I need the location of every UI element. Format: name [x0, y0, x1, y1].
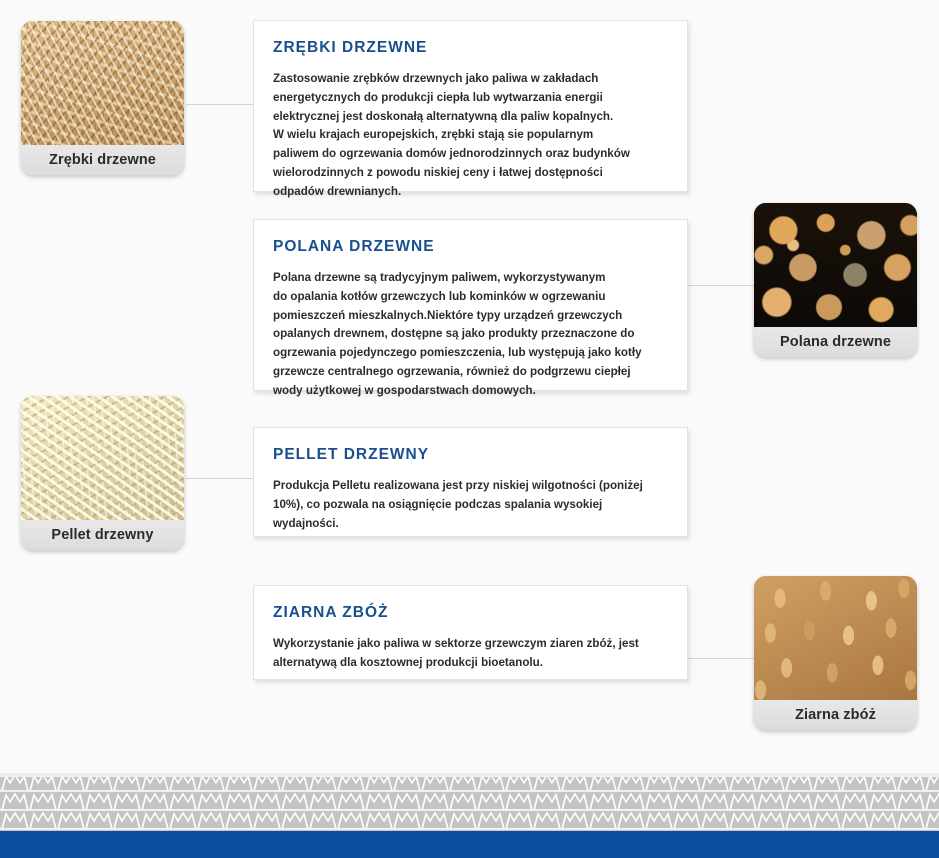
connector-line-wood-chips: [186, 104, 254, 105]
cereal-grains-photo: [754, 576, 917, 700]
thumbnail-caption: Ziarna zbóż: [754, 700, 917, 730]
biomass-fuels-infographic: Zrębki drzewne Zrębki drzewne Polana drz…: [0, 0, 939, 858]
info-card-wood-chips[interactable]: ZRĘBKI DRZEWNE Zastosowanie zrębków drze…: [253, 20, 688, 192]
wood-pellets-photo: [21, 396, 184, 520]
thumbnail-card[interactable]: Zrębki drzewne: [21, 21, 184, 175]
info-card-title: POLANA DRZEWNE: [273, 238, 668, 256]
info-card-cereal-grains[interactable]: ZIARNA ZBÓŻ Wykorzystanie jako paliwa w …: [253, 585, 688, 680]
thumbnail-reflection: Pellet drzewny: [21, 552, 184, 647]
thumbnail-reflection: Polana drzewne: [754, 359, 917, 454]
thumbnail-wood-pellets[interactable]: Pellet drzewny Pellet drzewny: [21, 396, 184, 647]
footer-blue-bar: [0, 831, 939, 858]
info-card-body: Wykorzystanie jako paliwa w sektorze grz…: [273, 635, 668, 673]
info-card-body: Produkcja Pelletu realizowana jest przy …: [273, 477, 668, 533]
thumbnail-reflection: Zrębki drzewne: [21, 177, 184, 272]
info-card-wood-pellets[interactable]: PELLET DRZEWNY Produkcja Pelletu realizo…: [253, 427, 688, 537]
info-card-body: Polana drzewne są tradycyjnym paliwem, w…: [273, 269, 668, 400]
firewood-logs-photo: [754, 203, 917, 327]
thumbnail-wood-chips[interactable]: Zrębki drzewne Zrębki drzewne: [21, 21, 184, 272]
info-card-firewood-logs[interactable]: POLANA DRZEWNE Polana drzewne są tradycy…: [253, 219, 688, 391]
thumbnail-caption: Zrębki drzewne: [21, 145, 184, 175]
thumbnail-reflection: Ziarna zbóż: [754, 732, 917, 827]
thumbnail-caption: Pellet drzewny: [21, 520, 184, 550]
connector-line-cereal-grains: [687, 658, 755, 659]
info-card-title: PELLET DRZEWNY: [273, 446, 668, 464]
info-card-title: ZIARNA ZBÓŻ: [273, 604, 668, 622]
info-card-title: ZRĘBKI DRZEWNE: [273, 39, 668, 57]
thumbnail-caption: Polana drzewne: [754, 327, 917, 357]
thumbnail-card[interactable]: Polana drzewne: [754, 203, 917, 357]
connector-line-wood-pellets: [186, 478, 254, 479]
wood-chips-photo: [21, 21, 184, 145]
info-card-body: Zastosowanie zrębków drzewnych jako pali…: [273, 70, 668, 201]
thumbnail-card[interactable]: Pellet drzewny: [21, 396, 184, 550]
connector-line-firewood-logs: [687, 285, 755, 286]
thumbnail-card[interactable]: Ziarna zbóż: [754, 576, 917, 730]
thumbnail-cereal-grains[interactable]: Ziarna zbóż Ziarna zbóż: [754, 576, 917, 827]
thumbnail-firewood-logs[interactable]: Polana drzewne Polana drzewne: [754, 203, 917, 454]
